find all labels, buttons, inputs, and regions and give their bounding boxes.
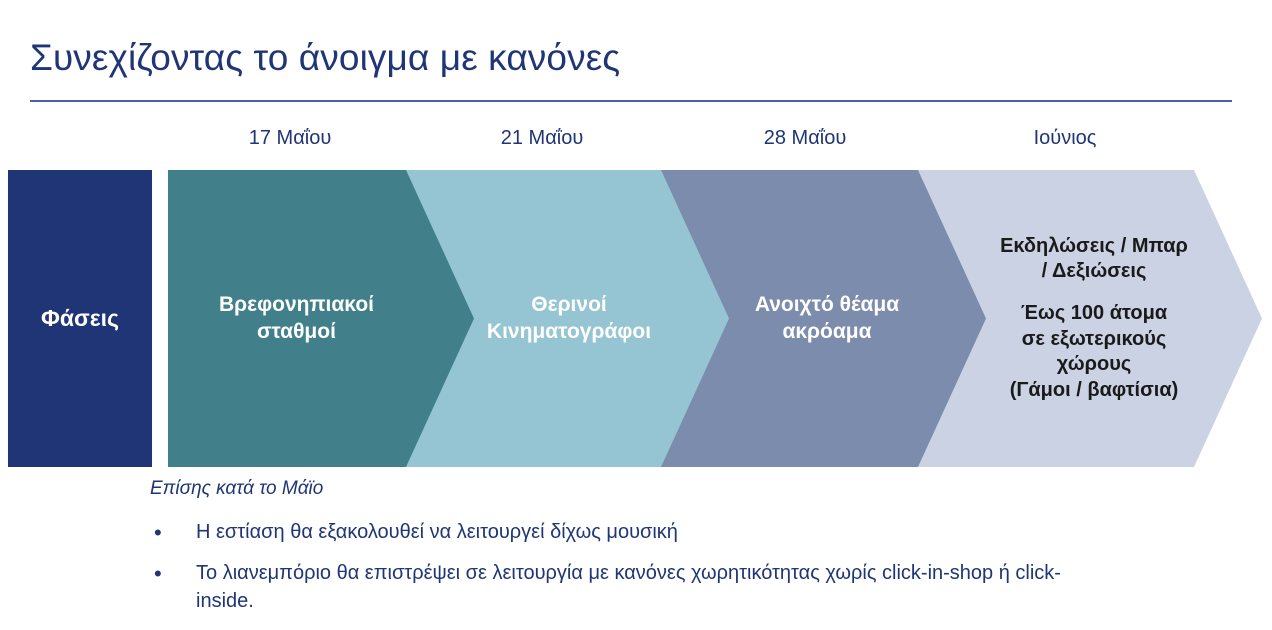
phases-row-header: Φάσεις: [8, 170, 152, 467]
bullet-glyph-icon: •: [150, 560, 196, 588]
timeline-phase-1-line-2: σταθμοί: [219, 319, 374, 346]
timeline-phase-4-line-3: Έως 100 άτομα: [1000, 301, 1188, 327]
title-divider: [30, 100, 1232, 102]
timeline-date-2: 21 Μαΐου: [501, 127, 584, 150]
note-item-text: Η εστίαση θα εξακολουθεί να λειτουργεί δ…: [196, 519, 678, 547]
timeline-phase-2-line-1: Θερινοί: [487, 292, 651, 319]
timeline-phase-4-line-2: / Δεξιώσεις: [1000, 259, 1188, 285]
timeline-chevron-band: Φάσεις Βρεφονηπιακοί σταθμοί Θερινοί Κιν…: [0, 170, 1272, 467]
timeline-date-3: 28 Μαΐου: [764, 127, 847, 150]
timeline-phase-4-line-6: (Γάμοι / βαφτίσια): [1000, 378, 1188, 404]
timeline-phase-3-line-1: Ανοιχτό θέαμα: [755, 292, 899, 319]
timeline-phase-2-line-2: Κινηματογράφοι: [487, 319, 651, 346]
timeline-phase-4-line-1: Εκδηλώσεις / Μπαρ: [1000, 234, 1188, 260]
timeline-date-4: Ιούνιος: [1034, 127, 1097, 150]
phases-row-header-label: Φάσεις: [41, 305, 119, 333]
timeline-phase-3-label: Ανοιχτό θέαμα ακρόαμα: [705, 292, 951, 346]
timeline-date-1: 17 Μαΐου: [249, 127, 332, 150]
bullet-glyph-icon: •: [150, 519, 196, 547]
slide-canvas: Συνεχίζοντας το άνοιγμα με κανόνες 17 Μα…: [0, 0, 1272, 629]
timeline-phase-4-line-4: σε εξωτερικούς: [1000, 327, 1188, 353]
timeline-phase-2-label: Θερινοί Κινηματογράφοι: [441, 292, 703, 346]
timeline-phase-1-label: Βρεφονηπιακοί σταθμοί: [219, 292, 432, 346]
timeline-phase-4-gap: [1000, 285, 1188, 301]
timeline-phase-3-line-2: ακρόαμα: [755, 319, 899, 346]
note-item-text: Το λιανεμπόριο θα επιστρέψει σε λειτουργ…: [196, 560, 1076, 615]
notes-heading: Επίσης κατά το Μάϊο: [150, 478, 1150, 501]
timeline-phase-1-line-1: Βρεφονηπιακοί: [219, 292, 374, 319]
notes-section: Επίσης κατά το Μάϊο • Η εστίαση θα εξακο…: [150, 478, 1150, 630]
page-title: Συνεχίζοντας το άνοιγμα με κανόνες: [30, 38, 1210, 79]
note-item: • Η εστίαση θα εξακολουθεί να λειτουργεί…: [150, 519, 1150, 547]
timeline-phase-4-label: Εκδηλώσεις / Μπαρ / Δεξιώσεις Έως 100 άτ…: [944, 234, 1236, 404]
timeline-phase-4-line-5: χώρους: [1000, 352, 1188, 378]
note-item: • Το λιανεμπόριο θα επιστρέψει σε λειτου…: [150, 560, 1150, 615]
